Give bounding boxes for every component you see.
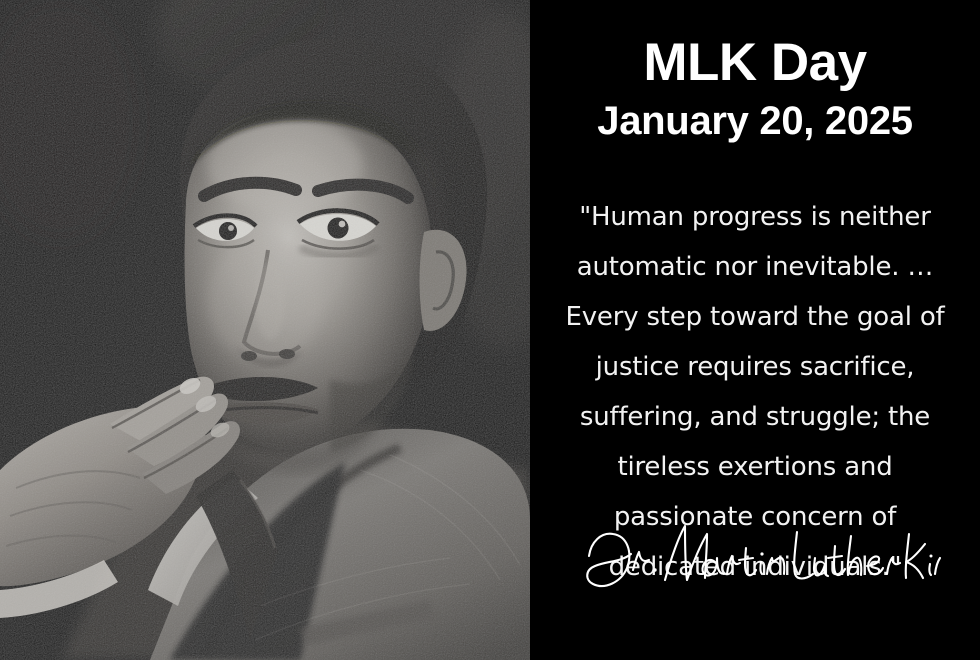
signature-block [530,518,980,608]
quote-line: tireless exertions and [558,442,952,492]
signature-mark [575,518,935,604]
headline-block: MLK Day January 20, 2025 [530,34,980,144]
mlk-day-poster: MLK Day January 20, 2025 "Human progress… [0,0,980,660]
quote-line: justice requires sacrifice, [558,342,952,392]
quote-line: Every step toward the goal of [558,292,952,342]
mlk-portrait-photo [0,0,530,660]
quote-line: suffering, and struggle; the [558,392,952,442]
text-panel: MLK Day January 20, 2025 "Human progress… [530,0,980,660]
quote-line: "Human progress is neither [558,192,952,242]
event-date: January 20, 2025 [530,99,980,144]
quote-line: automatic nor inevitable. … [558,242,952,292]
page-title: MLK Day [530,34,980,91]
